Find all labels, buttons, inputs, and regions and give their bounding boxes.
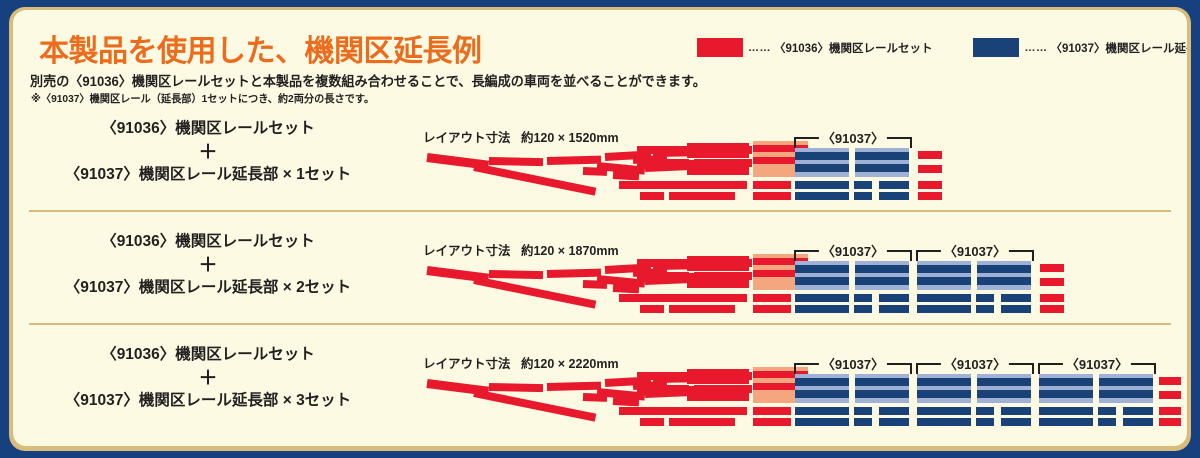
content-panel: 本製品を使用した、機関区延長例 別売の〈91036〉機関区レールセットと本製品を… xyxy=(13,10,1187,446)
ext-lower-rail xyxy=(879,305,909,313)
ext-module-upper xyxy=(795,374,849,403)
ext-lower-rail xyxy=(917,305,971,313)
rail-diag-5 xyxy=(583,393,607,402)
rail-end-buffer xyxy=(1159,418,1181,426)
rail-end-buffer xyxy=(918,165,942,173)
row-2-bracket-2: 〈91037〉 xyxy=(916,250,1034,261)
ext-module-upper xyxy=(917,374,971,403)
ext-stripe xyxy=(977,390,1031,398)
ext-stripe xyxy=(855,277,909,285)
rail-lower-7 xyxy=(753,418,791,426)
rail-end-buffer xyxy=(1159,377,1181,385)
rail-upper-a xyxy=(637,259,689,267)
rail-lower-7 xyxy=(753,192,791,200)
rail-block-1 xyxy=(687,143,749,158)
ext-lower-rail xyxy=(1001,407,1031,415)
rail-diag-4 xyxy=(613,397,639,406)
ext-stripe xyxy=(795,390,849,398)
ext-stripe xyxy=(855,378,909,386)
rail-block-2 xyxy=(687,273,749,288)
ext-module-upper xyxy=(795,148,849,177)
ext-lower-rail xyxy=(1123,418,1153,426)
ext-lower-rail xyxy=(917,294,971,302)
ext-stripe xyxy=(1039,390,1093,398)
rail-lower-2 xyxy=(640,192,664,200)
row-3-bracket-label-3: 〈91037〉 xyxy=(1063,354,1131,373)
row-2-bracket-label-2: 〈91037〉 xyxy=(941,241,1009,260)
row-1-bracket-1: 〈91037〉 xyxy=(794,137,912,148)
row-3-bracket-label-2: 〈91037〉 xyxy=(941,354,1009,373)
legend-dots-2: …… xyxy=(1024,42,1047,54)
rail-diag-5 xyxy=(583,280,607,289)
ext-stripe xyxy=(855,152,909,160)
legend-swatch-red-icon xyxy=(697,38,743,57)
ext-lower-rail xyxy=(854,407,872,415)
row-2-track-diagram: 〈91037〉 xyxy=(13,228,1187,323)
rail-lead-3 xyxy=(547,382,601,391)
legend-label-91036: 〈91036〉機関区レールセット xyxy=(774,40,932,56)
ext-module-upper xyxy=(1099,374,1153,403)
ext-lower-rail xyxy=(1098,407,1116,415)
rail-block-2 xyxy=(687,160,749,175)
rail-lower-1 xyxy=(619,407,747,415)
rail-lower-5 xyxy=(729,407,747,415)
rail-lower-3 xyxy=(669,418,735,426)
rail-end-buffer xyxy=(918,181,942,189)
page-title: 本製品を使用した、機関区延長例 xyxy=(39,26,482,70)
rail-lead-2 xyxy=(489,157,543,166)
ext-module-upper xyxy=(1039,374,1093,403)
rail-lower-1 xyxy=(619,294,747,302)
rail-diag-long xyxy=(473,276,596,309)
ext-lower-rail xyxy=(879,192,909,200)
rail-upper-b xyxy=(637,272,689,280)
example-row-1: 〈91036〉機関区レールセット ＋ 〈91037〉機関区レール延長部 × 1セ… xyxy=(13,115,1187,210)
ext-lower-rail xyxy=(976,305,994,313)
rail-lower-5 xyxy=(729,294,747,302)
rail-lower-6 xyxy=(753,181,791,189)
row-3-bracket-2: 〈91037〉 xyxy=(916,363,1034,374)
ext-lower-rail xyxy=(1001,294,1031,302)
ext-stripe xyxy=(977,265,1031,273)
rail-block-1 xyxy=(687,369,749,384)
ext-lower-rail xyxy=(1001,305,1031,313)
rail-lead-3 xyxy=(547,156,601,165)
row-3-bracket-1: 〈91037〉 xyxy=(794,363,912,374)
rail-upper-a xyxy=(637,146,689,154)
rail-lower-4 xyxy=(707,294,722,302)
row-3-bracket-label-1: 〈91037〉 xyxy=(819,354,887,373)
rail-lower-1 xyxy=(619,181,747,189)
ext-lower-rail xyxy=(917,418,971,426)
ext-stripe xyxy=(855,265,909,273)
ext-module-upper xyxy=(917,261,971,290)
row-3-bracket-3: 〈91037〉 xyxy=(1038,363,1156,374)
ext-stripe xyxy=(795,265,849,273)
row-1-track-diagram: 〈91037〉 xyxy=(13,115,1187,210)
ext-lower-rail xyxy=(1039,407,1093,415)
rail-lower-5 xyxy=(729,181,747,189)
ext-lower-rail xyxy=(795,305,849,313)
ext-lower-rail xyxy=(854,192,872,200)
ext-lower-rail xyxy=(795,192,849,200)
ext-stripe xyxy=(917,378,971,386)
ext-lower-rail xyxy=(1039,418,1093,426)
ext-stripe xyxy=(795,152,849,160)
rail-diag-long xyxy=(473,389,596,422)
ext-module-upper xyxy=(795,261,849,290)
outer-frame: 本製品を使用した、機関区延長例 別売の〈91036〉機関区レールセットと本製品を… xyxy=(0,0,1200,458)
row-1-bracket-label: 〈91037〉 xyxy=(819,128,887,147)
ext-lower-rail xyxy=(879,418,909,426)
ext-lower-rail xyxy=(795,181,849,189)
rail-end-buffer xyxy=(1040,264,1064,272)
legend-item-91037: …… 〈91037〉機関区レール延長部 xyxy=(973,38,1187,57)
rail-end-buffer xyxy=(1040,278,1064,286)
ext-stripe xyxy=(977,378,1031,386)
rail-diag-4 xyxy=(613,284,639,293)
rail-lead-3 xyxy=(547,269,601,278)
row-2-bracket-label-1: 〈91037〉 xyxy=(819,241,887,260)
example-row-2: 〈91036〉機関区レールセット ＋ 〈91037〉機関区レール延長部 × 2セ… xyxy=(13,228,1187,323)
ext-lower-rail xyxy=(976,418,994,426)
example-row-3: 〈91036〉機関区レールセット ＋ 〈91037〉機関区レール延長部 × 3セ… xyxy=(13,341,1187,436)
ext-lower-rail xyxy=(879,181,909,189)
ext-stripe xyxy=(917,390,971,398)
ext-lower-rail xyxy=(795,418,849,426)
rail-lower-6 xyxy=(753,294,791,302)
rail-end-buffer xyxy=(1040,305,1064,313)
legend-dots-1: …… xyxy=(748,42,771,54)
ext-module-upper xyxy=(855,148,909,177)
ext-lower-rail xyxy=(879,294,909,302)
legend-item-91036: …… 〈91036〉機関区レールセット xyxy=(697,38,932,57)
rail-lead-2 xyxy=(489,383,543,392)
ext-lower-rail xyxy=(795,407,849,415)
ext-stripe xyxy=(795,164,849,172)
rail-lower-7 xyxy=(753,305,791,313)
ext-lower-rail xyxy=(976,294,994,302)
rail-end-buffer xyxy=(1159,391,1181,399)
ext-lower-rail xyxy=(854,181,872,189)
ext-lower-rail xyxy=(1123,407,1153,415)
ext-lower-rail xyxy=(917,407,971,415)
rail-upper-a xyxy=(637,372,689,380)
ext-stripe xyxy=(917,265,971,273)
rail-end-buffer xyxy=(918,192,942,200)
legend-swatch-blue-icon xyxy=(973,38,1019,57)
ext-stripe xyxy=(977,277,1031,285)
row-divider-2 xyxy=(29,323,1171,325)
ext-stripe xyxy=(855,164,909,172)
ext-stripe xyxy=(1099,390,1153,398)
rail-block-1 xyxy=(687,256,749,271)
ext-stripe xyxy=(795,277,849,285)
ext-module-upper xyxy=(855,261,909,290)
ext-lower-rail xyxy=(854,418,872,426)
ext-lower-rail xyxy=(854,305,872,313)
rail-diag-5 xyxy=(583,167,607,176)
ext-lower-rail xyxy=(1001,418,1031,426)
ext-lower-rail xyxy=(1098,418,1116,426)
ext-lower-rail xyxy=(976,407,994,415)
ext-stripe xyxy=(917,277,971,285)
row-3-track-diagram: 〈91037〉 xyxy=(13,341,1187,436)
legend: …… 〈91036〉機関区レールセット …… 〈91037〉機関区レール延長部 xyxy=(697,38,1187,57)
rail-end-buffer xyxy=(1040,294,1064,302)
subtitle-text: 別売の〈91036〉機関区レールセットと本製品を複数組み合わせることで、長編成の… xyxy=(30,70,706,90)
rail-end-buffer xyxy=(1159,407,1181,415)
ext-lower-rail xyxy=(795,294,849,302)
ext-module-upper xyxy=(977,374,1031,403)
legend-label-91037: 〈91037〉機関区レール延長部 xyxy=(1050,40,1187,56)
rail-end-buffer xyxy=(918,151,942,159)
rail-lead-2 xyxy=(489,270,543,279)
rail-upper-b xyxy=(637,385,689,393)
rail-lower-6 xyxy=(753,407,791,415)
rail-block-2 xyxy=(687,386,749,401)
rail-diag-long xyxy=(473,163,596,196)
ext-stripe xyxy=(855,390,909,398)
ext-stripe xyxy=(1099,378,1153,386)
row-divider-1 xyxy=(29,210,1171,212)
rail-lower-2 xyxy=(640,418,664,426)
rail-diag-4 xyxy=(613,171,639,180)
rail-lower-4 xyxy=(707,181,722,189)
rail-lower-3 xyxy=(669,192,735,200)
ext-module-upper xyxy=(977,261,1031,290)
ext-module-upper xyxy=(855,374,909,403)
rail-lower-4 xyxy=(707,407,722,415)
ext-lower-rail xyxy=(879,407,909,415)
note-text: ※〈91037〉機関区レール（延長部）1セットにつき、約2両分の長さです。 xyxy=(31,91,374,106)
ext-lower-rail xyxy=(854,294,872,302)
ext-stripe xyxy=(1039,378,1093,386)
ext-stripe xyxy=(795,378,849,386)
row-2-bracket-1: 〈91037〉 xyxy=(794,250,912,261)
rail-lower-3 xyxy=(669,305,735,313)
rail-upper-b xyxy=(637,159,689,167)
rail-lower-2 xyxy=(640,305,664,313)
